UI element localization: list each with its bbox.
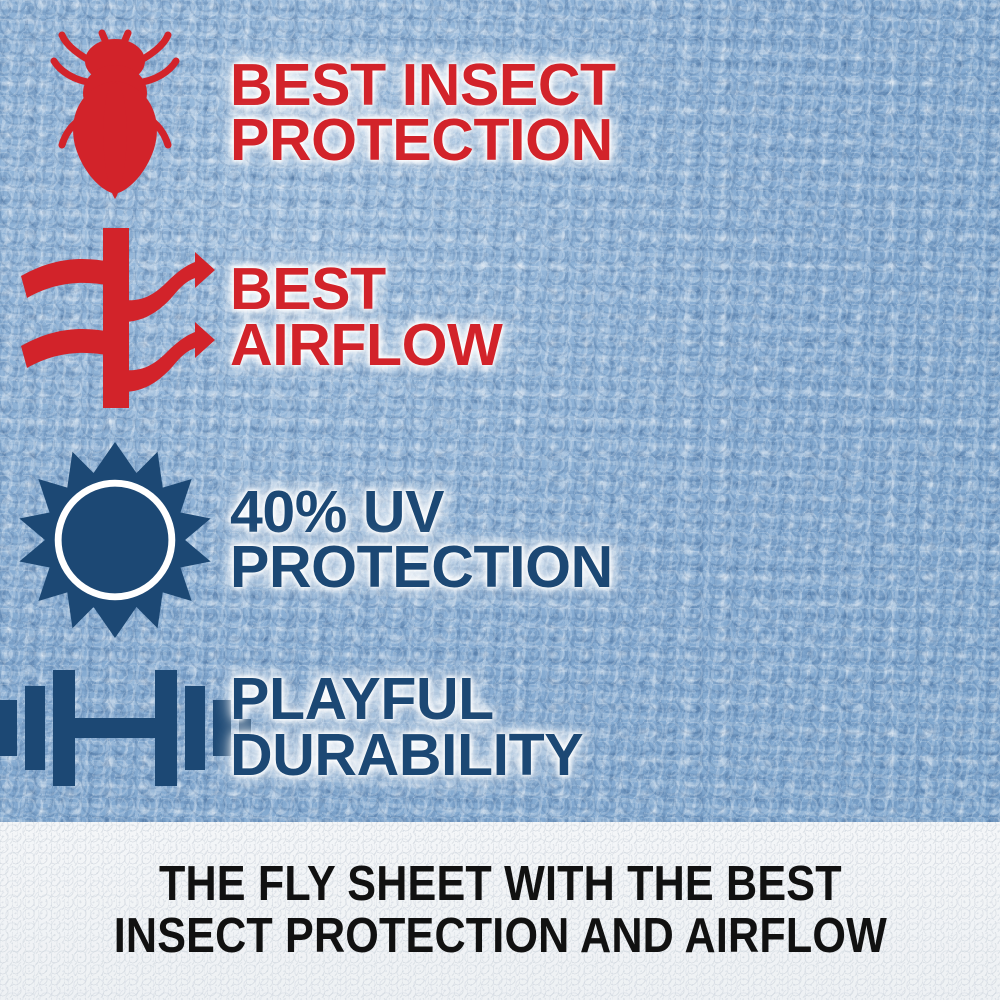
product-feature-poster: BEST INSECT PROTECTION xyxy=(0,0,1000,1000)
feature-icon-container-uv-protection xyxy=(0,442,230,638)
feature-label-durability: PLAYFUL DURABILITY xyxy=(230,672,1000,783)
feature-row-durability: PLAYFUL DURABILITY xyxy=(0,645,1000,810)
feature-icon-container-insect-protection xyxy=(0,21,230,206)
feature-text-container-durability: PLAYFUL DURABILITY xyxy=(230,672,1000,783)
feature-label-uv-protection: 40% UV PROTECTION xyxy=(230,485,1000,596)
feature-text-container-insect-protection: BEST INSECT PROTECTION xyxy=(230,58,1000,169)
feature-row-insect-protection: BEST INSECT PROTECTION xyxy=(0,18,1000,208)
sun-icon xyxy=(17,442,213,638)
feature-icon-container-airflow xyxy=(0,228,230,408)
feature-label-airflow: BEST AIRFLOW xyxy=(230,262,1000,373)
feature-label-insect-protection: BEST INSECT PROTECTION xyxy=(230,58,1000,169)
feature-text-container-airflow: BEST AIRFLOW xyxy=(230,262,1000,373)
caption-text: THE FLY SHEET WITH THE BEST INSECT PROTE… xyxy=(113,859,886,963)
feature-icon-container-durability xyxy=(0,658,230,798)
dumbbell-icon xyxy=(0,658,255,798)
feature-row-uv-protection: 40% UV PROTECTION xyxy=(0,440,1000,640)
airflow-through-barrier-icon xyxy=(15,228,215,408)
caption-band: THE FLY SHEET WITH THE BEST INSECT PROTE… xyxy=(0,822,1000,1000)
fly-icon xyxy=(40,21,190,206)
feature-text-container-uv-protection: 40% UV PROTECTION xyxy=(230,485,1000,596)
feature-row-airflow: BEST AIRFLOW xyxy=(0,225,1000,410)
